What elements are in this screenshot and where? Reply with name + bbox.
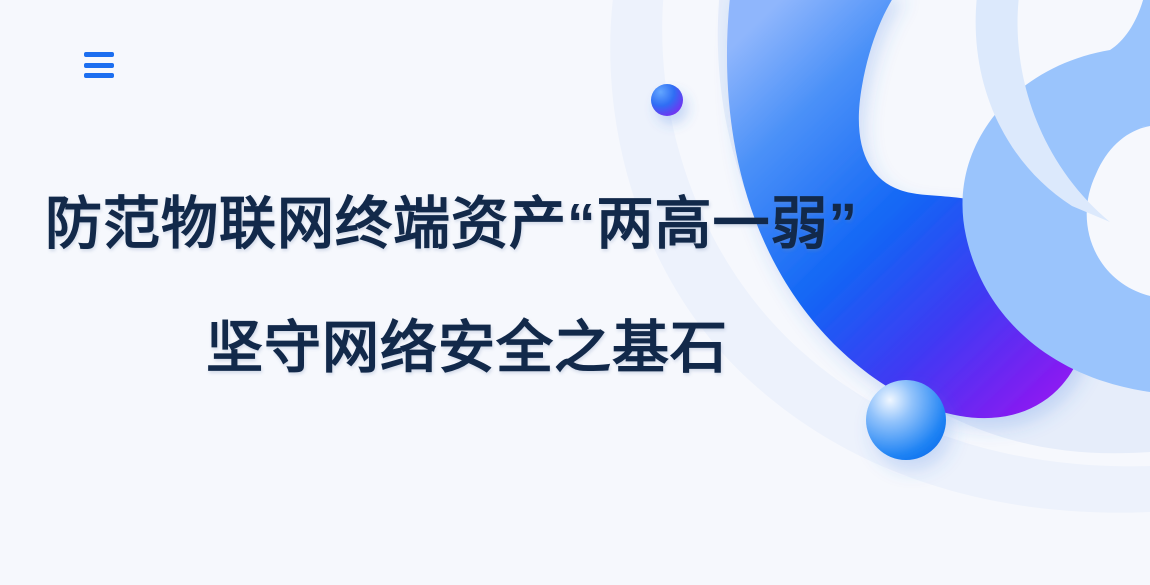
- page-title: 防范物联网终端资产“两高一弱” 坚守网络安全之基石: [0, 186, 880, 386]
- large-blue-sphere: [866, 380, 946, 460]
- light-blue-arc-upper: [976, 0, 1110, 222]
- slide-canvas: 防范物联网终端资产“两高一弱” 坚守网络安全之基石: [0, 0, 1150, 585]
- light-blue-arc: [962, 0, 1150, 392]
- small-gradient-sphere: [651, 84, 683, 116]
- hamburger-bar-top: [84, 52, 114, 57]
- hamburger-bar-middle: [84, 63, 114, 68]
- title-line-2: 坚守网络安全之基石: [0, 310, 880, 386]
- title-line-1: 防范物联网终端资产“两高一弱”: [0, 186, 880, 262]
- hamburger-bar-bottom: [84, 73, 114, 78]
- hamburger-menu-button[interactable]: [84, 52, 114, 78]
